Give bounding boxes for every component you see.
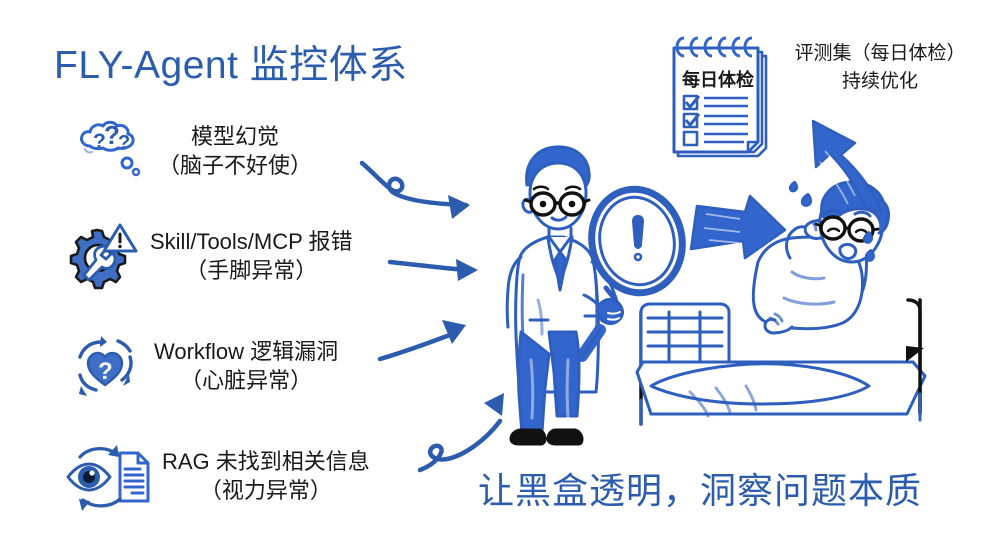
gear-wrench-warning-icon (62, 217, 140, 295)
symptom-row: ? Workflow 逻辑漏洞 （心脏异常） (66, 327, 338, 405)
symptom-row: RAG 未找到相关信息 （视力异常） (62, 437, 370, 515)
symptom-label: RAG 未找到相关信息 （视力异常） (162, 447, 370, 505)
symptom-line-2: （视力异常） (162, 476, 370, 505)
symptom-line-1: Skill/Tools/MCP 报错 (150, 227, 353, 256)
eye-document-refresh-icon (62, 437, 158, 515)
symptom-label: Skill/Tools/MCP 报错 （手脚异常） (150, 227, 353, 285)
eval-note: 评测集（每日体检） 持续优化 (762, 40, 998, 95)
notepad-heading: 每日体检 (682, 69, 754, 90)
symptom-line-1: RAG 未找到相关信息 (162, 447, 370, 476)
svg-text:?: ? (98, 358, 113, 385)
eval-note-line-2: 持续优化 (762, 68, 998, 96)
symptom-line-2: （心脏异常） (154, 366, 338, 395)
infographic-canvas: FLY-Agent 监控体系 ? ? ? 模型幻觉 （脑子不好使） (0, 0, 1000, 558)
page-title: FLY-Agent 监控体系 (54, 34, 408, 90)
eval-note-line-1: 评测集（每日体检） (762, 40, 998, 68)
thought-bubble-question-marks-icon: ? ? ? (70, 112, 148, 190)
heart-question-refresh-icon: ? (66, 327, 144, 405)
symptom-line-2: （脑子不好使） (158, 151, 312, 180)
symptom-label: 模型幻觉 （脑子不好使） (158, 122, 312, 180)
symptom-row: ? ? ? 模型幻觉 （脑子不好使） (70, 112, 312, 190)
symptom-row: Skill/Tools/MCP 报错 （手脚异常） (62, 217, 353, 295)
symptom-label: Workflow 逻辑漏洞 （心脏异常） (154, 337, 338, 395)
symptom-line-1: 模型幻觉 (158, 122, 312, 151)
svg-text:?: ? (118, 132, 130, 154)
bottom-caption: 让黑盒透明，洞察问题本质 (478, 462, 922, 514)
symptom-line-1: Workflow 逻辑漏洞 (154, 337, 338, 366)
symptom-line-2: （手脚异常） (150, 256, 353, 285)
